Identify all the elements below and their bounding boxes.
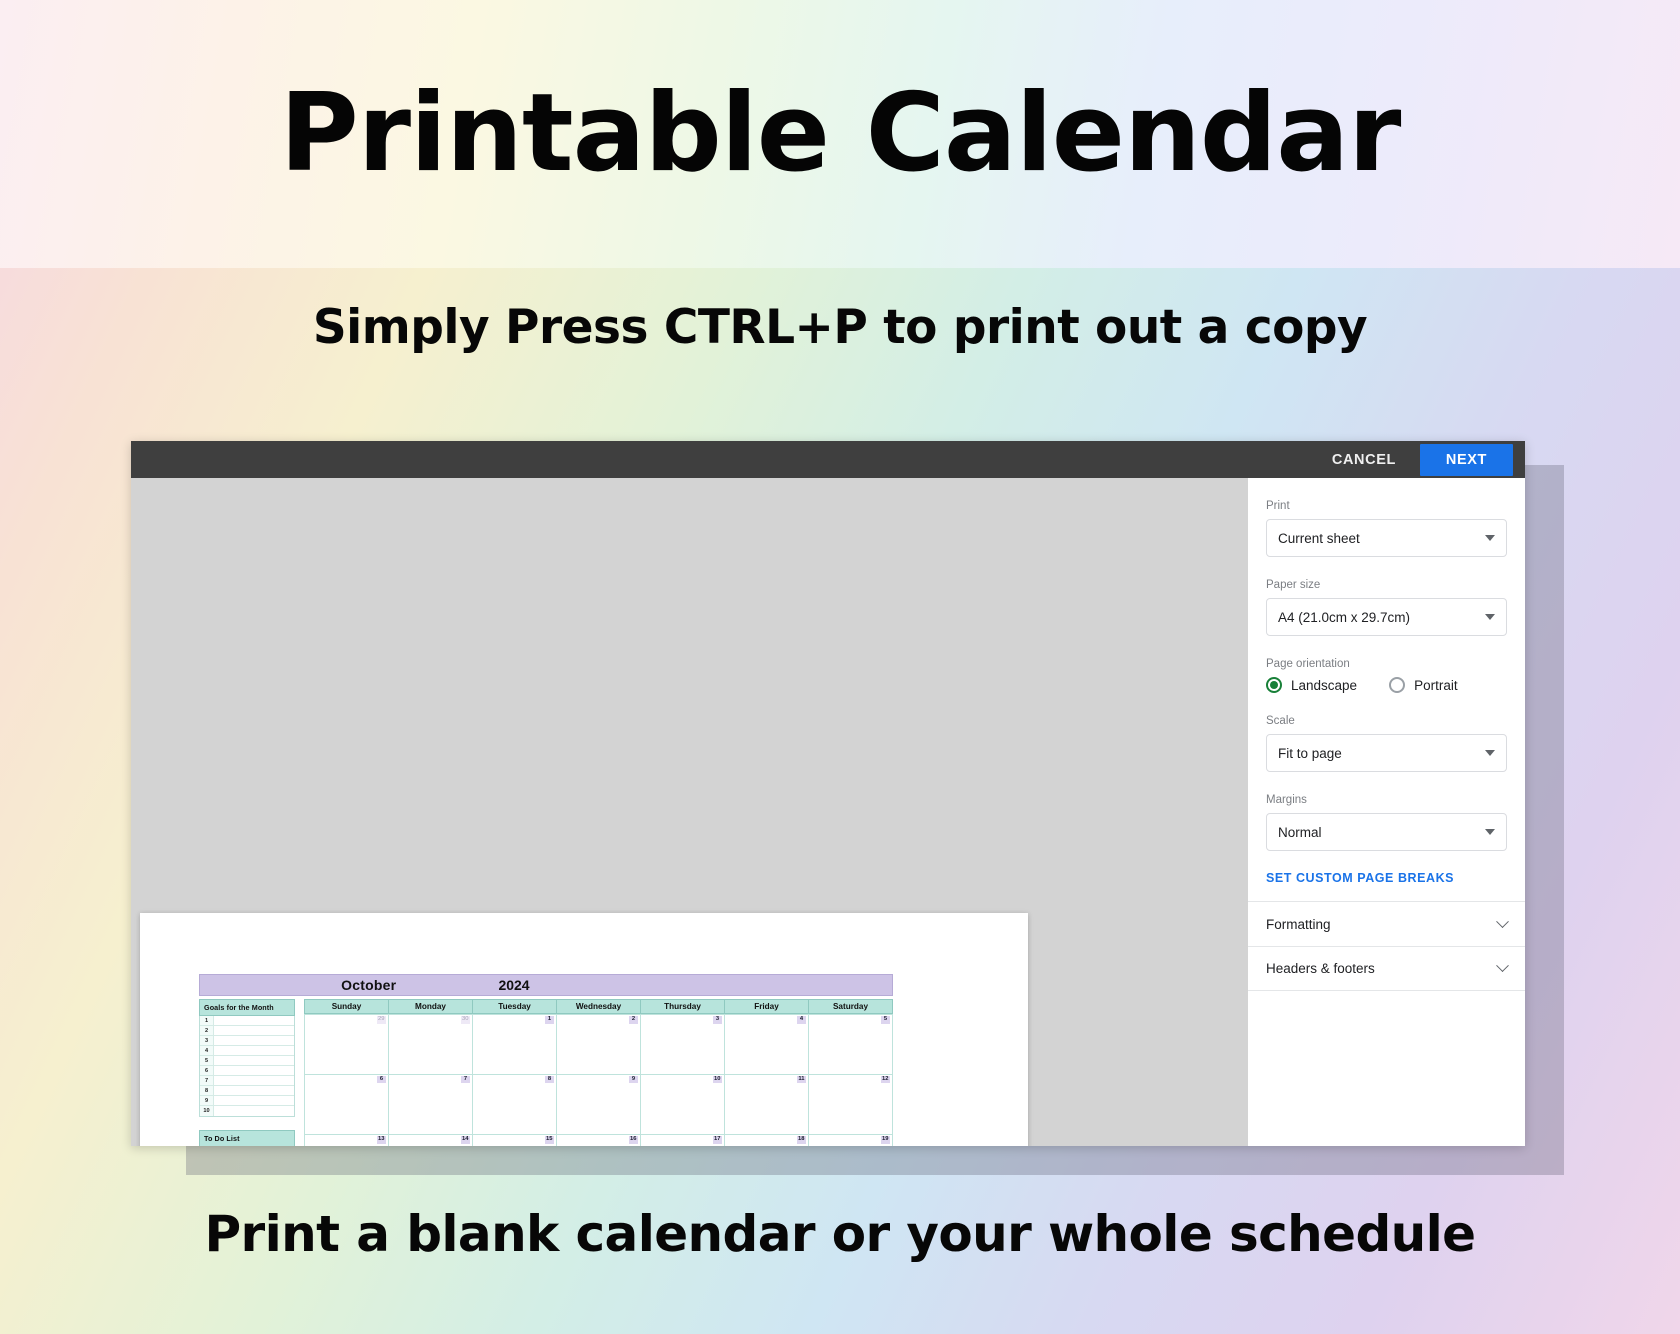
calendar-day-cell[interactable]: 19 [809,1135,893,1146]
calendar-day-cell[interactable]: 5 [809,1014,893,1075]
calendar-day-cell[interactable]: 11 [725,1075,809,1136]
scale-value: Fit to page [1278,746,1485,761]
calendar-year: 2024 [441,977,586,993]
goal-row[interactable]: 5 [200,1056,294,1066]
paper-size-section: Paper size A4 (21.0cm x 29.7cm) [1266,557,1507,636]
goal-row[interactable]: 9 [200,1096,294,1106]
calendar-day-cell[interactable]: 4 [725,1014,809,1075]
goal-write-line[interactable] [214,1016,294,1025]
calendar-title-bar: October 2024 [199,974,893,996]
next-button[interactable]: NEXT [1420,444,1513,476]
day-of-week-wednesday: Wednesday [557,999,641,1014]
goal-row[interactable]: 8 [200,1086,294,1096]
calendar-day-cell[interactable]: 18 [725,1135,809,1146]
calendar-day-cell[interactable]: 30 [389,1014,473,1075]
calendar-day-number: 11 [797,1076,806,1084]
print-preview-page: October 2024 Goals for the Month 1234567… [140,913,1028,1146]
calendar-month: October [296,977,441,993]
calendar-sheet: October 2024 Goals for the Month 1234567… [199,974,893,1146]
radio-portrait[interactable]: Portrait [1389,677,1458,693]
day-of-week-saturday: Saturday [809,999,893,1014]
calendar-day-number: 19 [881,1136,890,1144]
day-of-week-row: SundayMondayTuesdayWednesdayThursdayFrid… [304,999,893,1014]
radio-landscape-label: Landscape [1291,678,1357,693]
calendar-sidebar: Goals for the Month 12345678910 To Do Li… [199,999,295,1146]
calendar-day-number: 29 [377,1016,386,1024]
headers-footers-expander[interactable]: Headers & footers [1248,946,1525,991]
calendar-day-cell[interactable]: 12 [809,1075,893,1136]
goal-row[interactable]: 3 [200,1036,294,1046]
scale-label: Scale [1266,715,1507,727]
day-of-week-thursday: Thursday [641,999,725,1014]
formatting-label: Formatting [1266,917,1498,932]
calendar-day-number: 18 [797,1136,806,1144]
calendar-week-row: 13141516171819 [304,1135,893,1146]
goal-number: 7 [200,1076,214,1085]
goal-write-line[interactable] [214,1046,294,1055]
calendar-day-cell[interactable]: 15 [473,1135,557,1146]
calendar-day-cell[interactable]: 16 [557,1135,641,1146]
calendar-day-number: 15 [545,1136,554,1144]
scale-section: Scale Fit to page [1266,693,1507,772]
margins-section: Margins Normal [1266,772,1507,851]
goal-row[interactable]: 2 [200,1026,294,1036]
day-of-week-monday: Monday [389,999,473,1014]
goal-number: 5 [200,1056,214,1065]
radio-unselected-icon [1389,677,1405,693]
calendar-day-number: 12 [881,1076,890,1084]
calendar-day-cell[interactable]: 6 [304,1075,389,1136]
calendar-day-number: 7 [461,1076,470,1084]
calendar-day-cell[interactable]: 3 [641,1014,725,1075]
calendar-day-number: 30 [461,1016,470,1024]
goal-write-line[interactable] [214,1096,294,1105]
goal-write-line[interactable] [214,1036,294,1045]
calendar-day-number: 2 [629,1016,638,1024]
formatting-expander[interactable]: Formatting [1248,901,1525,946]
page-title: Printable Calendar [280,80,1401,188]
calendar-day-number: 16 [629,1136,638,1144]
print-section: Print Current sheet [1266,478,1507,557]
calendar-day-number: 14 [461,1136,470,1144]
chevron-down-icon [1485,614,1495,620]
calendar-day-cell[interactable]: 1 [473,1014,557,1075]
paper-size-select[interactable]: A4 (21.0cm x 29.7cm) [1266,598,1507,636]
margins-value: Normal [1278,825,1485,840]
chevron-down-icon [1485,750,1495,756]
goal-write-line[interactable] [214,1086,294,1095]
calendar-day-cell[interactable]: 13 [304,1135,389,1146]
goal-write-line[interactable] [214,1106,294,1116]
calendar-day-cell[interactable]: 14 [389,1135,473,1146]
calendar-day-number: 13 [377,1136,386,1144]
print-settings-panel: Print Current sheet Paper size A4 (21.0c… [1248,478,1525,1146]
paper-size-value: A4 (21.0cm x 29.7cm) [1278,610,1485,625]
goal-number: 1 [200,1016,214,1025]
calendar-day-cell[interactable]: 2 [557,1014,641,1075]
goal-number: 4 [200,1046,214,1055]
calendar-day-number: 17 [713,1136,722,1144]
calendar-day-number: 6 [377,1076,386,1084]
calendar-day-number: 10 [713,1076,722,1084]
goal-row[interactable]: 6 [200,1066,294,1076]
calendar-day-number: 3 [713,1016,722,1024]
goal-number: 10 [200,1106,214,1116]
page-orientation-section: Page orientation Landscape Portrait [1266,636,1507,693]
calendar-grid: SundayMondayTuesdayWednesdayThursdayFrid… [304,999,893,1146]
print-dialog-toolbar: CANCEL NEXT [131,441,1525,478]
sidebar-spacer [199,1117,295,1130]
chevron-down-icon [1485,829,1495,835]
page-orientation-label: Page orientation [1266,658,1507,670]
goals-list: 12345678910 [199,1016,295,1117]
cancel-button[interactable]: CANCEL [1318,445,1410,475]
goal-number: 2 [200,1026,214,1035]
todo-header: To Do List [199,1130,295,1146]
goal-number: 3 [200,1036,214,1045]
day-of-week-sunday: Sunday [304,999,389,1014]
goal-number: 8 [200,1086,214,1095]
paper-size-label: Paper size [1266,579,1507,591]
calendar-day-cell[interactable]: 29 [304,1014,389,1075]
top-banner: Printable Calendar [0,0,1680,268]
chevron-down-icon [1496,915,1509,928]
goal-row[interactable]: 4 [200,1046,294,1056]
headers-footers-label: Headers & footers [1266,961,1498,976]
caption-text: Print a blank calendar or your whole sch… [0,1205,1680,1263]
goal-write-line[interactable] [214,1056,294,1065]
print-label: Print [1266,500,1507,512]
calendar-day-number: 9 [629,1076,638,1084]
radio-portrait-label: Portrait [1414,678,1458,693]
goal-row[interactable]: 7 [200,1076,294,1086]
calendar-week-row: 6789101112 [304,1075,893,1136]
calendar-day-cell[interactable]: 8 [473,1075,557,1136]
goals-header: Goals for the Month [199,999,295,1016]
calendar-week-row: 293012345 [304,1014,893,1075]
calendar-body: Goals for the Month 12345678910 To Do Li… [199,999,893,1146]
margins-select[interactable]: Normal [1266,813,1507,851]
calendar-day-number: 8 [545,1076,554,1084]
radio-selected-icon [1266,677,1282,693]
calendar-day-cell[interactable]: 17 [641,1135,725,1146]
goal-write-line[interactable] [214,1026,294,1035]
radio-landscape[interactable]: Landscape [1266,677,1357,693]
day-of-week-tuesday: Tuesday [473,999,557,1014]
poster-canvas: Printable Calendar Simply Press CTRL+P t… [0,0,1680,1334]
margins-label: Margins [1266,794,1507,806]
page-orientation-radios: Landscape Portrait [1266,677,1507,693]
chevron-down-icon [1485,535,1495,541]
subtitle-text: Simply Press CTRL+P to print out a copy [0,300,1680,355]
calendar-day-cell[interactable]: 10 [641,1075,725,1136]
chevron-down-icon [1496,959,1509,972]
calendar-day-cell[interactable]: 7 [389,1075,473,1136]
calendar-day-number: 4 [797,1016,806,1024]
print-dialog-window: CANCEL NEXT October 2024 Goals for the M… [131,441,1525,1146]
day-of-week-friday: Friday [725,999,809,1014]
scale-select[interactable]: Fit to page [1266,734,1507,772]
goal-number: 9 [200,1096,214,1105]
print-select[interactable]: Current sheet [1266,519,1507,557]
calendar-day-cell[interactable]: 9 [557,1075,641,1136]
calendar-day-number: 5 [881,1016,890,1024]
goal-row[interactable]: 1 [200,1016,294,1026]
calendar-day-number: 1 [545,1016,554,1024]
set-custom-page-breaks-button[interactable]: SET CUSTOM PAGE BREAKS [1266,871,1507,885]
goal-row[interactable]: 10 [200,1106,294,1116]
goal-write-line[interactable] [214,1076,294,1085]
goal-number: 6 [200,1066,214,1075]
goal-write-line[interactable] [214,1066,294,1075]
calendar-weeks: 2930123456789101112131415161718192021222… [304,1014,893,1146]
print-value: Current sheet [1278,531,1485,546]
